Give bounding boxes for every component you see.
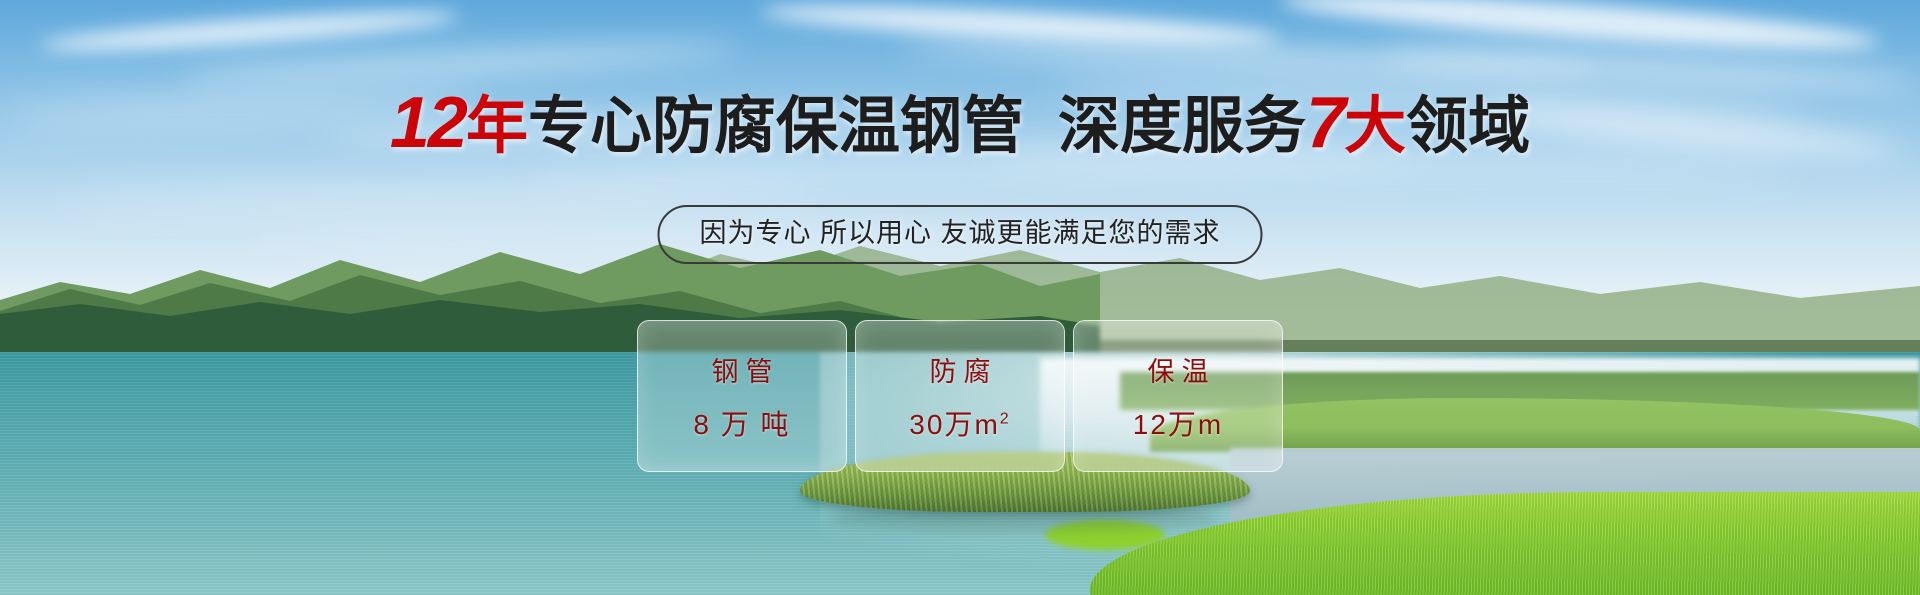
headline-service: 深度服务	[1058, 92, 1306, 161]
hero-banner: 12年专心防腐保温钢管深度服务7大领域 因为专心 所以用心 友诚更能满足您的需求…	[0, 0, 1920, 595]
stat-card-insulation[interactable]: 保温 12万m	[1073, 320, 1283, 472]
page-title: 12年专心防腐保温钢管深度服务7大领域	[0, 92, 1920, 158]
stat-card-value-text: 30万m	[909, 409, 999, 440]
stat-card-value-sup: 2	[1000, 410, 1011, 427]
stat-card-list: 钢管 8 万 吨 防腐 30万m2 保温 12万m	[637, 320, 1283, 472]
headline-fields-unit: 大	[1344, 92, 1406, 161]
headline-fields-tail: 领域	[1406, 92, 1530, 161]
headline-years-unit: 年	[466, 92, 528, 161]
stat-card-title: 防腐	[923, 350, 998, 389]
stat-card-value: 30万m2	[909, 403, 1010, 443]
headline-years-number: 12	[390, 83, 466, 163]
stat-card-steel-pipe[interactable]: 钢管 8 万 吨	[637, 320, 847, 472]
subtitle-pill: 因为专心 所以用心 友诚更能满足您的需求	[657, 205, 1262, 264]
stat-card-value: 12万m	[1133, 403, 1223, 443]
stat-card-value: 8 万 吨	[693, 403, 790, 443]
stat-card-anticorrosion[interactable]: 防腐 30万m2	[855, 320, 1065, 472]
stat-card-title: 保温	[1141, 350, 1216, 389]
headline-main: 专心防腐保温钢管	[528, 92, 1024, 161]
stat-card-title: 钢管	[705, 350, 780, 389]
headline-fields-number: 7	[1306, 83, 1344, 163]
